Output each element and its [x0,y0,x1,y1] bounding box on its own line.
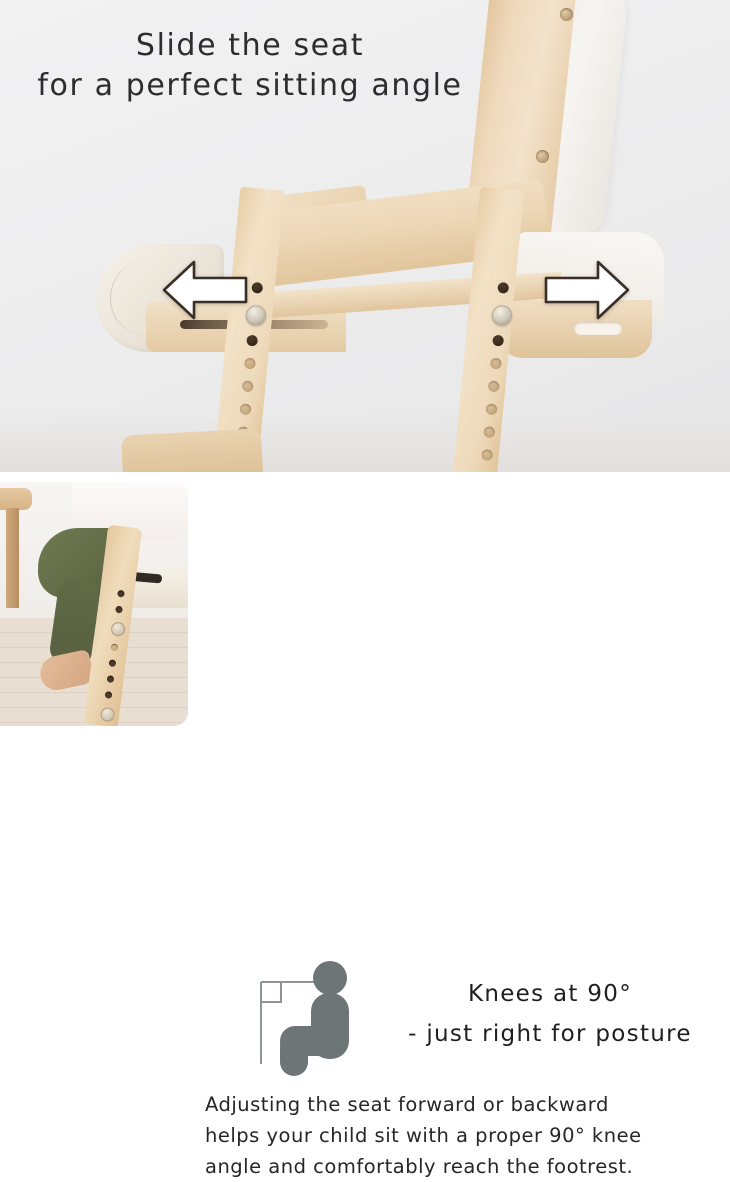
arrow-right-icon [540,258,634,326]
arrow-left-icon [158,258,252,326]
knees-headline: Knees at 90° - just right for posture [390,974,710,1054]
body-copy: Adjusting the seat forward or backward h… [205,1089,717,1182]
inset-adjustment-hole [105,691,113,699]
inset-desk-leg [6,508,19,608]
inset-desk-top [0,488,32,510]
adjustment-hole [251,282,263,294]
chair-front-base [121,428,263,472]
adjustment-hole [244,357,256,369]
knees-headline-line1: Knees at 90° [390,974,710,1014]
inset-adjustment-hole [110,643,118,651]
bottom-info-panel: Knees at 90° - just right for posture Ad… [0,472,730,730]
inset-adjustment-hole [117,590,125,598]
body-copy-line1: Adjusting the seat forward or backward [205,1089,717,1120]
inset-adjustment-hole [115,606,123,614]
inset-adjustment-hole [109,659,117,667]
backrest-screw-bottom [536,150,549,163]
hero-title: Slide the seat for a perfect sitting ang… [0,26,500,106]
hero-title-line2: for a perfect sitting angle [0,66,500,106]
adjustment-hole [497,282,509,294]
inset-adjustment-hole [107,675,115,683]
adjustment-hole [490,357,502,369]
adjustment-hole [242,380,254,392]
hero-photo-panel: Slide the seat for a perfect sitting ang… [0,0,730,472]
hero-title-line1: Slide the seat [0,26,500,66]
body-copy-line2: helps your child sit with a proper 90° k… [205,1120,717,1151]
adjustment-hole [481,449,493,461]
adjustment-hole [488,380,500,392]
inset-adjustment-knob [100,707,116,723]
body-copy-line3: angle and comfortably reach the footrest… [205,1151,717,1182]
backrest-screw-top [560,8,573,21]
knees-headline-line2: - just right for posture [390,1014,710,1054]
adjustment-hole [483,426,495,438]
child-seated-photo [0,482,188,726]
adjustment-hole [246,335,258,347]
adjustment-hole [240,403,252,415]
inset-adjustment-knob [110,621,126,637]
adjustment-hole [492,335,504,347]
adjustment-hole [486,403,498,415]
seated-person-90-degree-icon [258,960,370,1080]
